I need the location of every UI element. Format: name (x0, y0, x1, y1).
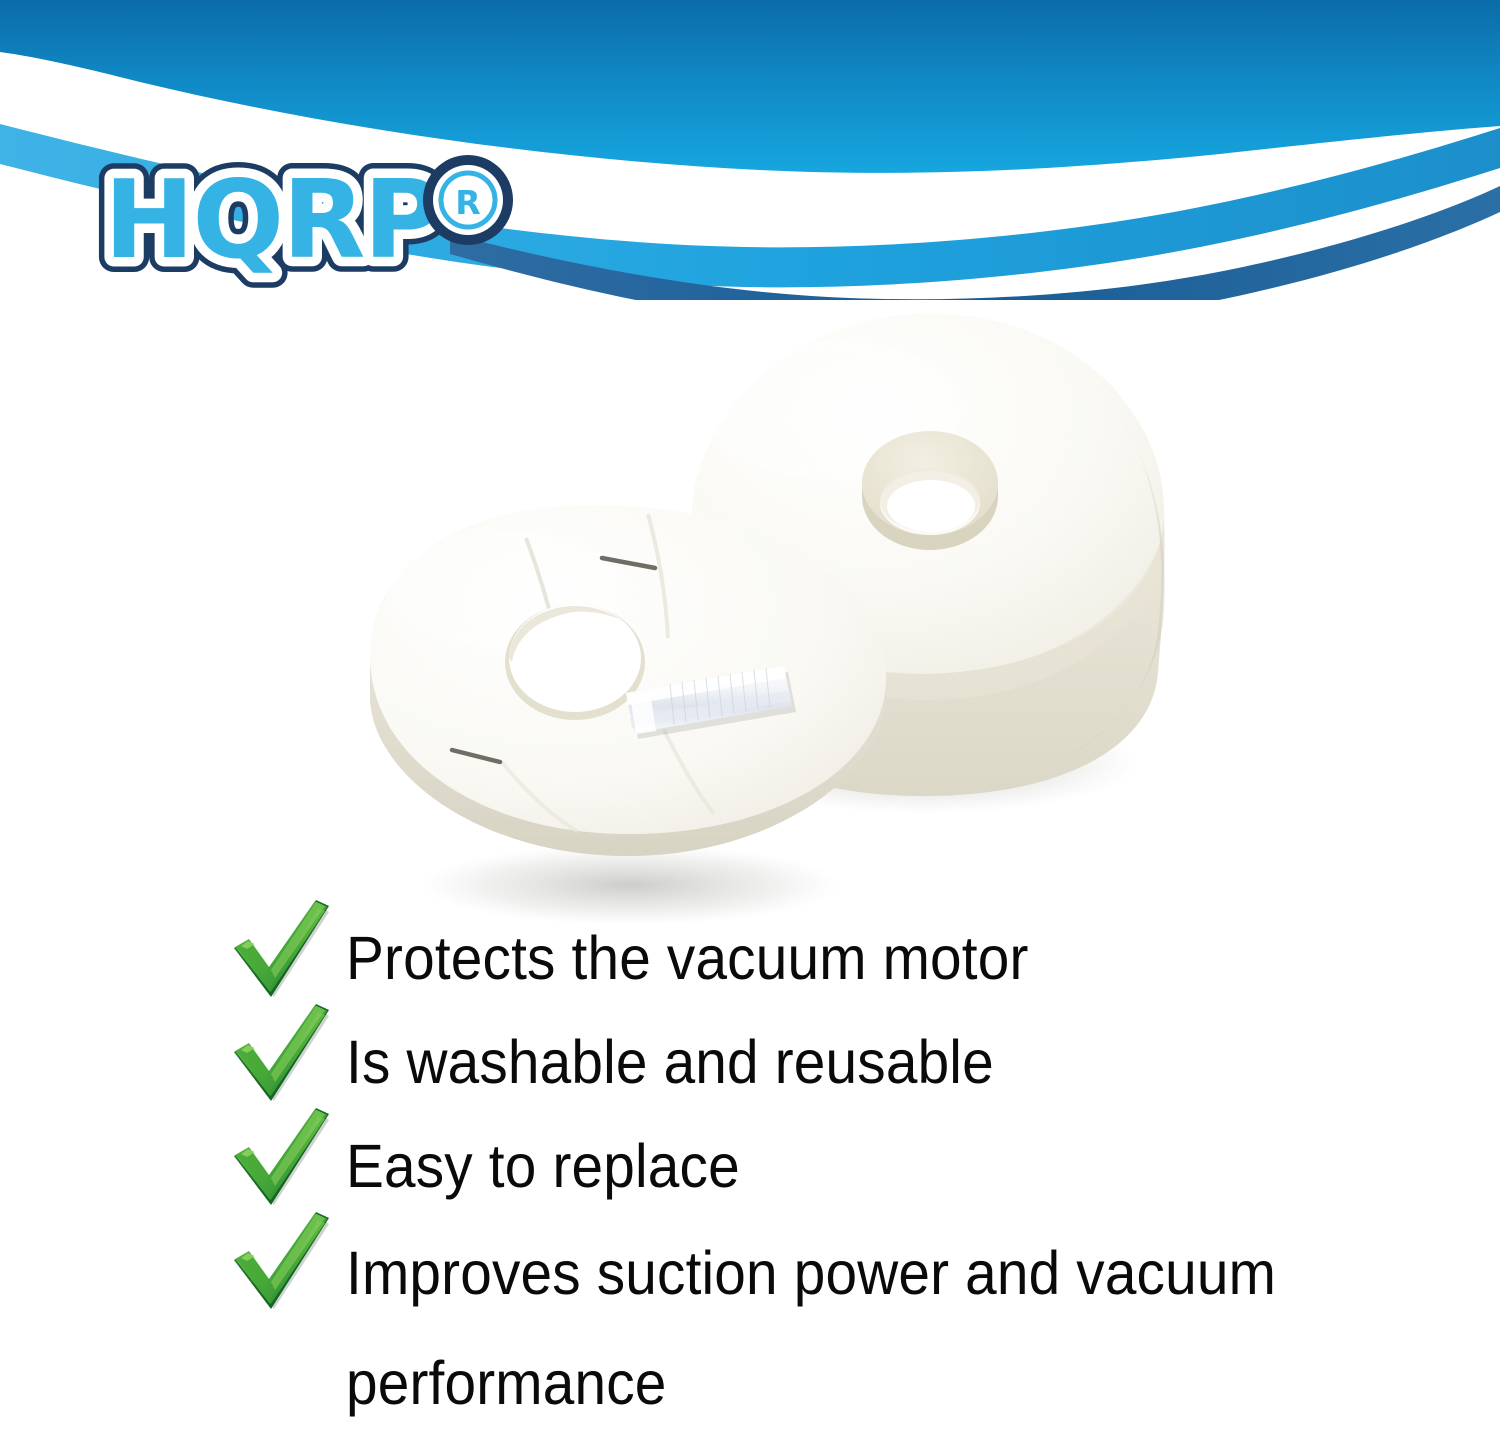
benefit-label: Protects the vacuum motor (346, 906, 1029, 1010)
green-check-icon (228, 1114, 346, 1218)
green-check-icon (228, 906, 346, 1010)
hqrp-logo: HQRP HQRP HQRP R (88, 152, 588, 292)
benefit-row: Is washable and reusable (228, 1010, 1478, 1114)
registered-mark-letter: R (455, 183, 480, 222)
benefit-row: Easy to replace (228, 1114, 1478, 1218)
benefit-label: Is washable and reusable (346, 1010, 994, 1114)
green-check-icon (228, 1010, 346, 1114)
benefit-label: Improves suction power and vacuum perfor… (346, 1218, 1388, 1436)
benefit-label: Easy to replace (346, 1114, 740, 1218)
benefits-list: Protects the vacuum motor Is washable an… (228, 906, 1478, 1436)
product-photo (330, 300, 1190, 930)
product-marketing-image: HQRP HQRP HQRP R (0, 0, 1500, 1436)
benefit-row: Protects the vacuum motor (228, 906, 1478, 1010)
flat-felt-filter (370, 505, 886, 925)
registered-trademark-icon: R (423, 155, 513, 245)
banner-main-shape (0, 0, 1500, 173)
logo-wordmark: HQRP (104, 158, 441, 283)
benefit-row: Improves suction power and vacuum perfor… (228, 1218, 1478, 1436)
green-check-icon (228, 1218, 346, 1322)
